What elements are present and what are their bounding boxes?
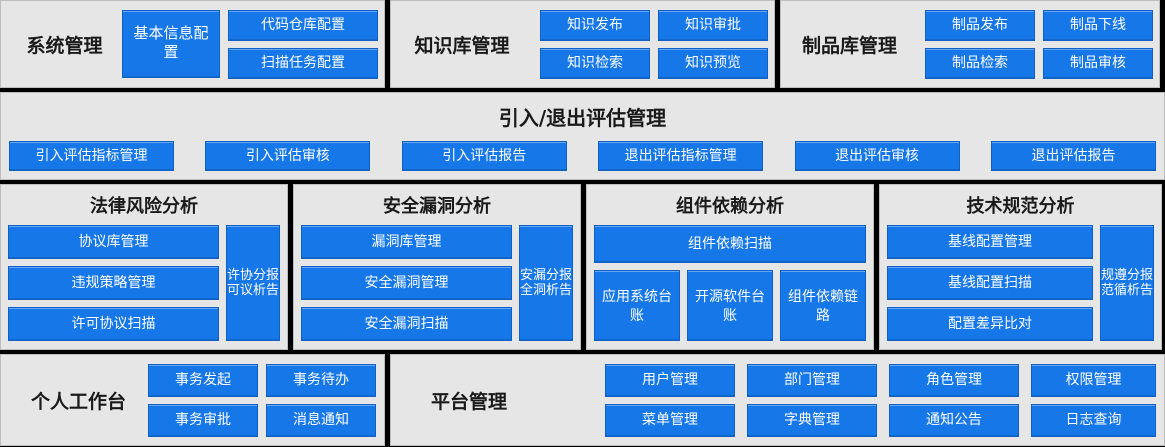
dashboard-root: 系统管理 基本信息配置 代码仓库配置 扫描任务配置 知识库管理 知识发布 知识检…	[0, 0, 1165, 447]
button-user-management[interactable]: 用户管理	[605, 364, 735, 397]
panel-title-personal-workbench: 个人工作台	[9, 387, 148, 414]
button-task-approve[interactable]: 事务审批	[148, 404, 258, 437]
button-violation-policy-management[interactable]: 违规策略管理	[8, 266, 219, 300]
button-scan-task-config[interactable]: 扫描任务配置	[228, 48, 378, 79]
button-log-query[interactable]: 日志查询	[1031, 404, 1156, 437]
button-entry-eval-report[interactable]: 引入评估报告	[402, 141, 567, 171]
button-security-vulnerability-management[interactable]: 安全漏洞管理	[301, 266, 512, 300]
panel-title-artifact-repo: 制品库管理	[787, 31, 912, 58]
button-component-dependency-scan[interactable]: 组件依赖扫描	[594, 225, 866, 263]
row-top: 系统管理 基本信息配置 代码仓库配置 扫描任务配置 知识库管理 知识发布 知识检…	[0, 0, 1165, 88]
panel-title-component-dependency: 组件依赖分析	[594, 192, 866, 218]
button-artifact-offline[interactable]: 制品下线	[1043, 10, 1153, 41]
button-component-dependency-chain[interactable]: 组件依赖链路	[780, 270, 866, 341]
button-artifact-search[interactable]: 制品检索	[925, 48, 1035, 79]
button-license-library-management[interactable]: 协议库管理	[8, 225, 219, 259]
panel-platform-management: 平台管理 用户管理 菜单管理 部门管理 字典管理 角色管理 通知公告 权限管理 …	[390, 354, 1165, 446]
button-artifact-audit[interactable]: 制品审核	[1043, 48, 1153, 79]
panel-legal-risk-analysis: 法律风险分析 协议库管理 违规策略管理 许可协议扫描 许可协议分析报告	[0, 184, 288, 350]
button-exit-eval-review[interactable]: 退出评估审核	[795, 141, 960, 171]
button-role-management[interactable]: 角色管理	[889, 364, 1019, 397]
button-license-agreement-scan[interactable]: 许可协议扫描	[8, 307, 219, 341]
panel-security-vulnerability-analysis: 安全漏洞分析 漏洞库管理 安全漏洞管理 安全漏洞扫描 安全漏洞分析报告	[293, 184, 581, 350]
button-basic-info-config[interactable]: 基本信息配置	[122, 10, 220, 78]
button-entry-eval-indicator-management[interactable]: 引入评估指标管理	[9, 141, 174, 171]
button-application-system-ledger[interactable]: 应用系统台账	[594, 270, 680, 341]
button-code-repo-config[interactable]: 代码仓库配置	[228, 10, 378, 41]
button-license-analysis-report[interactable]: 许可协议分析报告	[226, 225, 280, 341]
panel-component-dependency-analysis: 组件依赖分析 组件依赖扫描 应用系统台账 开源软件台账 组件依赖链路	[586, 184, 874, 350]
button-entry-eval-review[interactable]: 引入评估审核	[205, 141, 370, 171]
button-standard-compliance-report[interactable]: 规范遵循分析报告	[1100, 225, 1154, 341]
button-exit-eval-indicator-management[interactable]: 退出评估指标管理	[598, 141, 763, 171]
button-knowledge-publish[interactable]: 知识发布	[540, 10, 650, 41]
panel-title-technical-standard: 技术规范分析	[887, 192, 1154, 218]
panel-title-legal-risk: 法律风险分析	[8, 192, 280, 218]
row-analysis: 法律风险分析 协议库管理 违规策略管理 许可协议扫描 许可协议分析报告 安全漏洞…	[0, 184, 1165, 350]
button-exit-eval-report[interactable]: 退出评估报告	[991, 141, 1156, 171]
evaluation-button-group: 引入评估指标管理 引入评估审核 引入评估报告 退出评估指标管理 退出评估审核 退…	[1, 141, 1164, 179]
panel-personal-workbench: 个人工作台 事务发起 事务审批 事务待办 消息通知	[0, 354, 385, 446]
button-knowledge-preview[interactable]: 知识预览	[658, 48, 768, 79]
panel-title-system-management: 系统管理	[7, 31, 122, 58]
panel-knowledge-base-management: 知识库管理 知识发布 知识检索 知识审批 知识预览	[390, 0, 775, 88]
button-knowledge-approve[interactable]: 知识审批	[658, 10, 768, 41]
button-vulnerability-library-management[interactable]: 漏洞库管理	[301, 225, 512, 259]
button-security-vulnerability-report[interactable]: 安全漏洞分析报告	[519, 225, 573, 341]
panel-title-security-vulnerability: 安全漏洞分析	[301, 192, 573, 218]
button-artifact-publish[interactable]: 制品发布	[925, 10, 1035, 41]
button-knowledge-search[interactable]: 知识检索	[540, 48, 650, 79]
button-task-initiate[interactable]: 事务发起	[148, 364, 258, 397]
button-department-management[interactable]: 部门管理	[747, 364, 877, 397]
row-evaluation: 引入/退出评估管理 引入评估指标管理 引入评估审核 引入评估报告 退出评估指标管…	[0, 92, 1165, 180]
button-security-vulnerability-scan[interactable]: 安全漏洞扫描	[301, 307, 512, 341]
panel-entry-exit-evaluation: 引入/退出评估管理 引入评估指标管理 引入评估审核 引入评估报告 退出评估指标管…	[0, 92, 1165, 180]
button-dictionary-management[interactable]: 字典管理	[747, 404, 877, 437]
button-notice-announcement[interactable]: 通知公告	[889, 404, 1019, 437]
button-baseline-config-management[interactable]: 基线配置管理	[887, 225, 1093, 259]
button-message-notification[interactable]: 消息通知	[266, 404, 376, 437]
panel-title-knowledge-base: 知识库管理	[397, 31, 527, 58]
panel-artifact-repo-management: 制品库管理 制品发布 制品检索 制品下线 制品审核	[780, 0, 1160, 88]
button-open-source-software-ledger[interactable]: 开源软件台账	[687, 270, 773, 341]
button-task-todo[interactable]: 事务待办	[266, 364, 376, 397]
panel-technical-standard-analysis: 技术规范分析 基线配置管理 基线配置扫描 配置差异比对 规范遵循分析报告	[879, 184, 1162, 350]
button-config-difference-comparison[interactable]: 配置差异比对	[887, 307, 1093, 341]
button-baseline-config-scan[interactable]: 基线配置扫描	[887, 266, 1093, 300]
panel-title-platform-management: 平台管理	[399, 387, 539, 414]
button-menu-management[interactable]: 菜单管理	[605, 404, 735, 437]
panel-system-management: 系统管理 基本信息配置 代码仓库配置 扫描任务配置	[0, 0, 385, 88]
row-bottom: 个人工作台 事务发起 事务审批 事务待办 消息通知 平台管理 用户管理 菜单管理	[0, 354, 1165, 446]
button-permission-management[interactable]: 权限管理	[1031, 364, 1156, 397]
panel-title-entry-exit-evaluation: 引入/退出评估管理	[1, 102, 1164, 131]
